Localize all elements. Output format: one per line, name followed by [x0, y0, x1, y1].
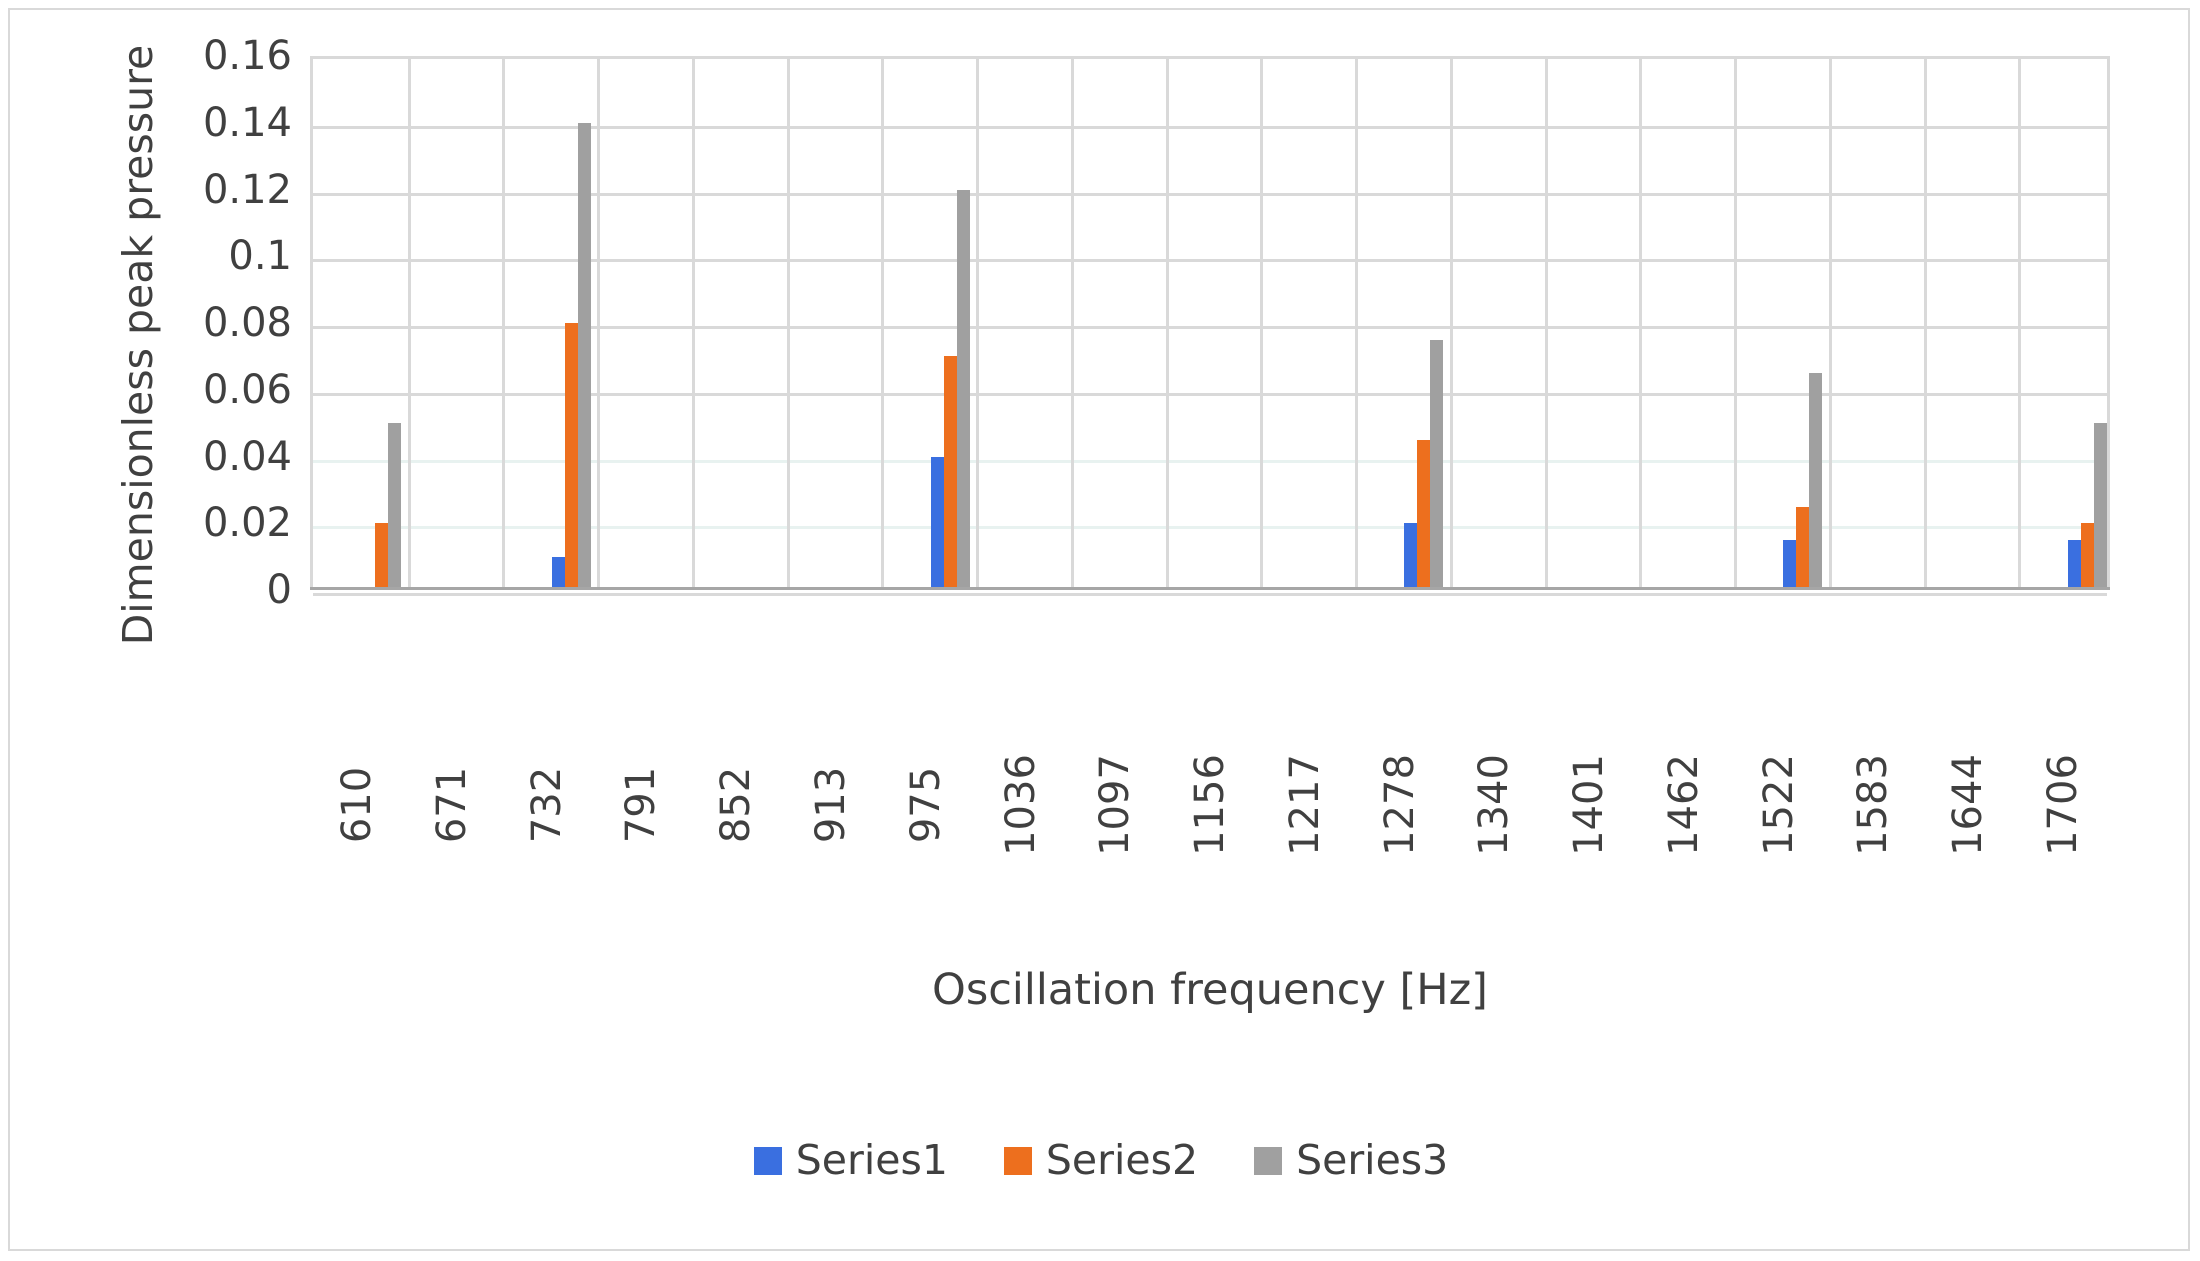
y-tick-label: 0.04	[203, 437, 292, 477]
bar	[957, 190, 970, 591]
x-tick-label: 1278	[1369, 595, 1429, 825]
x-axis-title: Oscillation frequency [Hz]	[310, 965, 2110, 1015]
legend-item[interactable]: Series3	[1254, 1140, 1448, 1181]
bar	[1809, 373, 1822, 590]
legend-item[interactable]: Series2	[1004, 1140, 1198, 1181]
x-tick-label: 1097	[1085, 595, 1145, 825]
bar	[2081, 523, 2094, 590]
x-tick-label: 1340	[1464, 595, 1524, 825]
legend-label: Series1	[796, 1140, 948, 1181]
legend-label: Series3	[1296, 1140, 1448, 1181]
x-tick-label: 1217	[1275, 595, 1335, 825]
x-tick-label-text: 1156	[1190, 754, 1230, 856]
x-tick-label-text: 791	[622, 767, 662, 843]
x-tick-label: 1036	[991, 595, 1051, 825]
x-tick-label-text: 732	[527, 767, 567, 843]
bar	[388, 423, 401, 590]
legend-label: Series2	[1046, 1140, 1198, 1181]
x-tick-label-text: 1706	[2043, 754, 2083, 856]
x-tick-label: 1583	[1843, 595, 1903, 825]
x-tick-label-text: 1522	[1758, 754, 1798, 856]
x-tick-label: 1462	[1654, 595, 1714, 825]
x-tick-label: 1401	[1559, 595, 1619, 825]
bar	[565, 323, 578, 590]
y-tick-label: 0.06	[203, 370, 292, 410]
x-tick-label: 1706	[2033, 595, 2093, 825]
y-tick-label: 0.08	[203, 303, 292, 343]
chart-frame: Dimensionless peak pressure 0.160.140.12…	[8, 8, 2190, 1251]
legend-swatch-icon	[754, 1147, 782, 1175]
bar	[2068, 540, 2081, 590]
x-axis-tick-labels: 6106717327918529139751036109711561217127…	[310, 595, 2110, 845]
bar	[1783, 540, 1796, 590]
y-tick-label: 0.1	[228, 236, 292, 276]
x-tick-label: 610	[327, 595, 387, 825]
x-tick-label-text: 1097	[1095, 754, 1135, 856]
x-tick-label-text: 1340	[1474, 754, 1514, 856]
y-tick-label: 0.02	[203, 503, 292, 543]
x-tick-label: 913	[801, 595, 861, 825]
x-tick-label: 1522	[1748, 595, 1808, 825]
chart-legend: Series1Series2Series3	[10, 1140, 2192, 1181]
x-tick-label: 1156	[1180, 595, 1240, 825]
x-tick-label-text: 913	[811, 767, 851, 843]
x-tick-label-text: 671	[432, 767, 472, 843]
legend-item[interactable]: Series1	[754, 1140, 948, 1181]
y-tick-label: 0.16	[203, 36, 292, 76]
bar	[1430, 340, 1443, 590]
x-axis-line	[310, 587, 2110, 590]
x-tick-label-text: 1462	[1664, 754, 1704, 856]
x-tick-label: 975	[896, 595, 956, 825]
x-tick-label-text: 1278	[1379, 754, 1419, 856]
x-tick-label-text: 1217	[1285, 754, 1325, 856]
y-tick-label: 0.12	[203, 170, 292, 210]
x-tick-label-text: 975	[906, 767, 946, 843]
bar	[1404, 523, 1417, 590]
bar	[944, 356, 957, 590]
x-tick-label-text: 1583	[1853, 754, 1893, 856]
x-tick-label: 1644	[1938, 595, 1998, 825]
bar	[552, 557, 565, 590]
x-tick-label-text: 610	[337, 767, 377, 843]
legend-swatch-icon	[1254, 1147, 1282, 1175]
x-tick-label: 791	[612, 595, 672, 825]
bar	[931, 457, 944, 591]
x-tick-label: 852	[706, 595, 766, 825]
bar	[1417, 440, 1430, 590]
legend-swatch-icon	[1004, 1147, 1032, 1175]
bar	[1796, 507, 1809, 590]
x-tick-label-text: 1644	[1948, 754, 1988, 856]
x-tick-label-text: 852	[716, 767, 756, 843]
bar	[375, 523, 388, 590]
y-tick-label: 0	[267, 570, 292, 610]
y-axis-tick-labels: 0.160.140.120.10.080.060.040.020	[140, 34, 300, 590]
y-tick-label: 0.14	[203, 103, 292, 143]
x-tick-label: 671	[422, 595, 482, 825]
bars-layer	[313, 59, 2107, 590]
x-tick-label-text: 1401	[1569, 754, 1609, 856]
bar	[2094, 423, 2107, 590]
x-tick-label: 732	[517, 595, 577, 825]
plot-area	[310, 56, 2110, 590]
bar	[578, 123, 591, 590]
x-tick-label-text: 1036	[1001, 754, 1041, 856]
